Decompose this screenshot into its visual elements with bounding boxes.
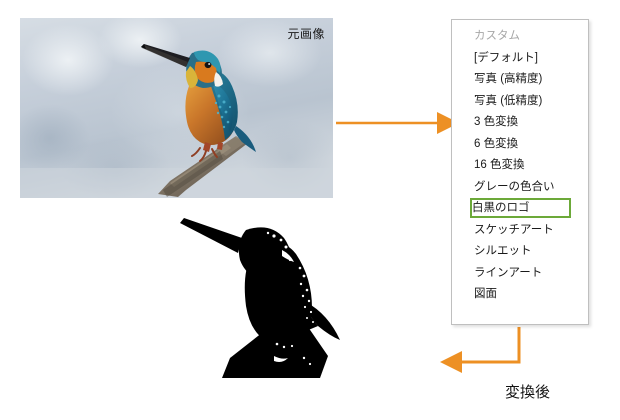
- preset-item-label: 16 色変換: [474, 159, 525, 171]
- preset-item-gray-shades[interactable]: グレーの色合い: [452, 177, 588, 199]
- preset-item-label: 図面: [474, 288, 497, 300]
- preset-item-custom: カスタム: [452, 26, 588, 48]
- preset-item-label: 6 色変換: [474, 138, 518, 150]
- preset-item-label: グレーの色合い: [474, 181, 555, 193]
- arrow-to-menu-icon: [336, 112, 459, 134]
- original-image-caption: 元画像: [287, 25, 325, 42]
- preset-item-label: シルエット: [474, 245, 532, 257]
- converted-result-caption: 変換後: [505, 381, 550, 402]
- preset-item-16-color[interactable]: 16 色変換: [452, 155, 588, 177]
- preset-item-label: 3 色変換: [474, 116, 518, 128]
- preset-list: カスタム [デフォルト] 写真 (高精度) 写真 (低精度) 3 色変換 6 色…: [452, 20, 588, 306]
- kingfisher-photo-graphic: [20, 18, 333, 198]
- preset-item-default[interactable]: [デフォルト]: [452, 48, 588, 70]
- preset-item-label: 白黒のロゴ: [472, 202, 530, 214]
- preset-item-drawing[interactable]: 図面: [452, 284, 588, 306]
- preset-dropdown-menu[interactable]: カスタム [デフォルト] 写真 (高精度) 写真 (低精度) 3 色変換 6 色…: [451, 19, 589, 325]
- preset-item-black-white-logo[interactable]: 白黒のロゴ: [452, 198, 588, 220]
- preset-item-sketch-art[interactable]: スケッチアート: [452, 220, 588, 242]
- preset-item-3-color[interactable]: 3 色変換: [452, 112, 588, 134]
- arrow-from-menu-icon: [440, 327, 519, 373]
- converted-silhouette: [178, 206, 378, 378]
- original-photo: 元画像: [20, 18, 333, 198]
- preset-item-label: カスタム: [474, 30, 520, 42]
- preset-item-photo-low[interactable]: 写真 (低精度): [452, 91, 588, 113]
- diagram-canvas: 元画像: [0, 0, 620, 420]
- preset-item-photo-high[interactable]: 写真 (高精度): [452, 69, 588, 91]
- preset-item-silhouette[interactable]: シルエット: [452, 241, 588, 263]
- preset-item-line-art[interactable]: ラインアート: [452, 263, 588, 285]
- preset-item-label: 写真 (低精度): [474, 95, 542, 107]
- preset-item-6-color[interactable]: 6 色変換: [452, 134, 588, 156]
- preset-item-label: [デフォルト]: [474, 52, 538, 64]
- kingfisher-silhouette-graphic: [178, 206, 378, 378]
- preset-item-label: 写真 (高精度): [474, 73, 542, 85]
- preset-item-label: スケッチアート: [474, 224, 554, 236]
- preset-item-label: ラインアート: [474, 267, 542, 279]
